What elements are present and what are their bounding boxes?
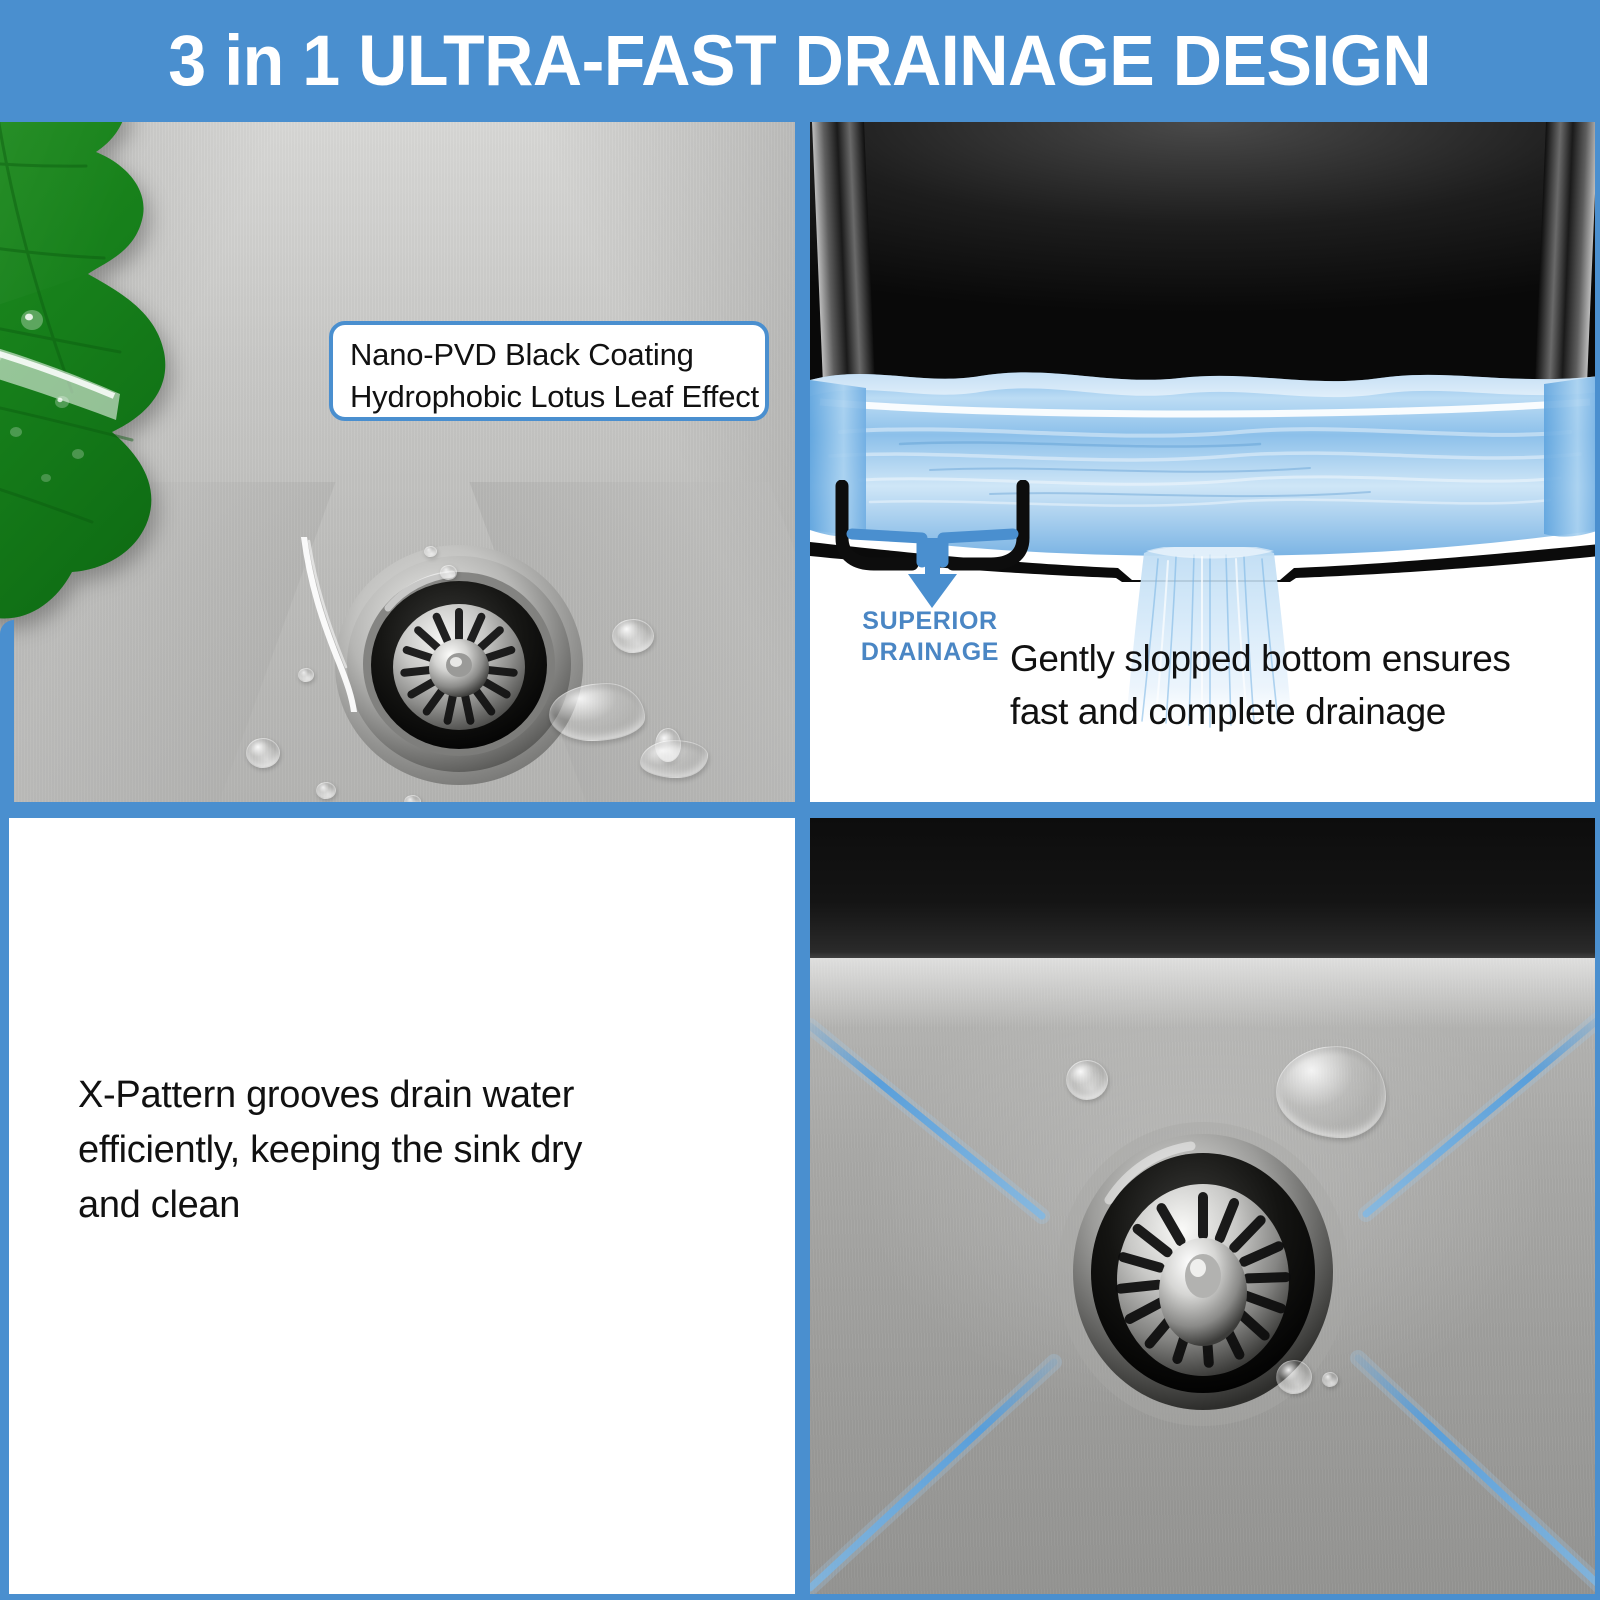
water-droplet [316,782,336,799]
bottom-left-body-line2: efficiently, keeping the sink dry [78,1123,718,1178]
superior-drainage-label-line2: DRAINAGE [820,637,1040,668]
top-right-body-line2: fast and complete drainage [1010,685,1600,738]
water-droplet [1322,1372,1338,1387]
callout-line-1: Nano-PVD Black Coating [350,334,749,376]
water-droplet [1066,1060,1108,1100]
top-right-body-line1: Gently slopped bottom ensures [1010,632,1600,685]
callout-nano-pvd: Nano-PVD Black Coating Hydrophobic Lotus… [329,321,769,421]
bottom-left-body-line3: and clean [78,1178,718,1233]
top-right-body-text: Gently slopped bottom ensures fast and c… [1010,632,1600,738]
panel-divider-vertical [795,122,810,1600]
callout-line-2: Hydrophobic Lotus Leaf Effect [350,376,749,418]
panel-x-pattern-text: X-Pattern grooves drain water efficientl… [0,818,795,1600]
header-banner: 3 in 1 ULTRA-FAST DRAINAGE DESIGN [0,0,1600,122]
sink-drain-strainer-icon [1053,1116,1353,1436]
sink-back-wall [810,818,1600,970]
water-stream-icon [292,537,362,712]
superior-drainage-icon [830,480,1035,610]
panel-edge-left-bottom [0,818,9,1600]
water-droplet [246,738,280,768]
superior-drainage-label: SUPERIOR DRAINAGE [820,606,1040,668]
panel-sloped-bottom-drainage: SUPERIOR DRAINAGE Gently slopped bottom … [810,122,1600,802]
water-droplet [612,619,654,653]
panel-edge-left-top [0,620,14,810]
water-droplet [440,565,457,580]
panel-edge-right [1595,122,1600,1600]
page-title: 3 in 1 ULTRA-FAST DRAINAGE DESIGN [169,21,1432,102]
superior-drainage-label-line1: SUPERIOR [820,606,1040,637]
panel-nano-pvd-coating: Nano-PVD Black Coating Hydrophobic Lotus… [0,122,795,802]
infographic-page: 3 in 1 ULTRA-FAST DRAINAGE DESIGN [0,0,1600,1600]
bottom-left-body-line1: X-Pattern grooves drain water [78,1068,718,1123]
panel-edge-bottom [0,1594,1600,1600]
water-droplet [404,795,421,802]
bottom-left-body-text: X-Pattern grooves drain water efficientl… [78,1068,718,1233]
panel-divider-horizontal [0,802,1600,818]
water-droplet [1276,1360,1312,1394]
panel-x-pattern-photo [810,818,1600,1600]
water-droplet [424,546,437,557]
